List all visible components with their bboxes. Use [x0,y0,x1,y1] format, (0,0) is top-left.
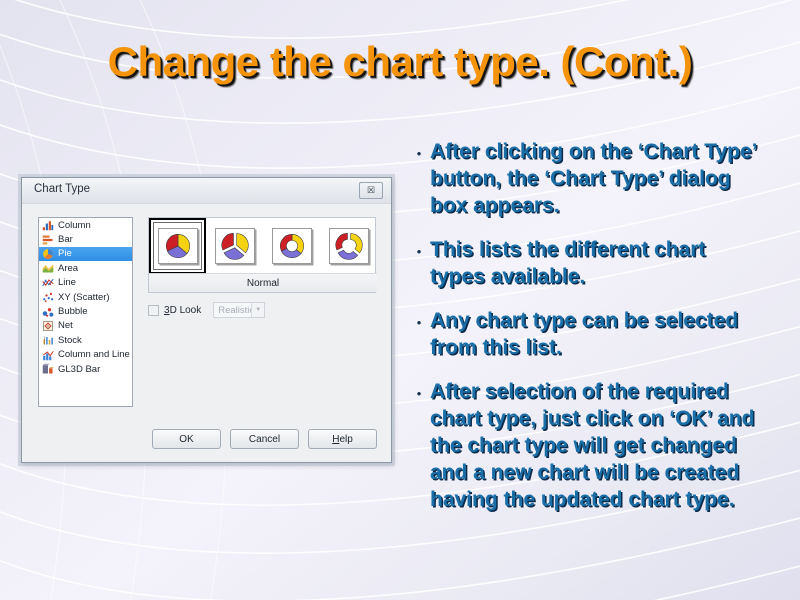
close-icon[interactable]: ☒ [359,182,383,199]
chart-type-dialog: Chart Type ☒ ColumnBarPieAreaLineXY (Sca… [21,177,392,463]
list-item-column[interactable]: Column [39,218,132,232]
list-item-label: Bar [58,234,73,245]
chart-type-listbox[interactable]: ColumnBarPieAreaLineXY (Scatter)BubbleNe… [38,217,133,407]
chevron-down-icon[interactable]: ▼ [251,303,264,317]
scatter-chart-icon [42,291,54,303]
gallery-caption: Normal [149,273,377,292]
column-and-line-chart-icon [42,349,54,361]
dialog-body: ColumnBarPieAreaLineXY (Scatter)BubbleNe… [22,204,391,463]
list-item-pie[interactable]: Pie [39,247,132,261]
list-item-label: Column [58,220,91,231]
list-item-stock[interactable]: Stock [39,333,132,347]
list-item-column-and-line[interactable]: Column and Line [39,348,132,362]
dialog-titlebar[interactable]: Chart Type ☒ [22,178,391,204]
donut-variant-icon [272,228,312,264]
list-item-label: Net [58,320,73,331]
chart-variant-pie-normal[interactable] [149,218,206,274]
chart-variant-donut-exploded[interactable] [320,218,377,274]
pie-exploded-variant-icon [215,228,255,264]
bullet-list: • After clicking on the ‘Chart Type’ but… [408,138,766,513]
list-item-label: XY (Scatter) [58,292,110,303]
list-item-gl3d-bar[interactable]: GL3D Bar [39,362,132,376]
dialog-title: Chart Type [34,183,90,195]
help-button[interactable]: Help [308,429,377,449]
chart-variant-gallery: Normal [148,217,376,293]
list-item-area[interactable]: Area [39,261,132,275]
gl3d-bar-chart-icon [42,363,54,375]
donut-exploded-variant-icon [329,228,369,264]
bullet-marker: • [408,138,430,169]
ok-button[interactable]: OK [152,429,221,449]
page-title: Change the chart type. (Cont.) [0,38,800,86]
list-item-label: Line [58,277,76,288]
column-chart-icon [42,219,54,231]
chart-variant-donut[interactable] [263,218,320,274]
chart-variant-row [149,218,377,274]
net-chart-icon [42,320,54,332]
bar-chart-icon [42,234,54,246]
list-item-bubble[interactable]: Bubble [39,304,132,318]
3d-look-checkbox[interactable] [148,305,159,316]
line-chart-icon [42,277,54,289]
list-item-xy-scatter[interactable]: XY (Scatter) [39,290,132,304]
cancel-button[interactable]: Cancel [230,429,299,449]
list-item: • After selection of the required chart … [408,378,766,513]
list-item-line[interactable]: Line [39,276,132,290]
list-item-net[interactable]: Net [39,319,132,333]
list-item: • Any chart type can be selected from th… [408,307,766,361]
3d-look-row: 3D Look Realistic ▼ [148,302,265,318]
area-chart-icon [42,262,54,274]
3d-look-select[interactable]: Realistic ▼ [213,302,265,318]
list-item-bar[interactable]: Bar [39,232,132,246]
list-item-label: Stock [58,335,82,346]
list-item-label: Column and Line [58,349,130,360]
list-item-label: Area [58,263,78,274]
dialog-button-bar: OK Cancel Help [152,429,377,449]
list-item-label: GL3D Bar [58,364,100,375]
list-item: • After clicking on the ‘Chart Type’ but… [408,138,766,219]
bullet-text: This lists the different chart types ava… [430,236,766,290]
stock-chart-icon [42,334,54,346]
bullet-text: After clicking on the ‘Chart Type’ butto… [430,138,766,219]
list-item-label: Pie [58,248,72,259]
pie-chart-icon [42,248,54,260]
3d-look-select-value: Realistic [214,305,254,316]
3d-look-label: 3D Look [164,305,201,316]
bullet-text: After selection of the required chart ty… [430,378,766,513]
bubble-chart-icon [42,306,54,318]
list-item: • This lists the different chart types a… [408,236,766,290]
list-item-label: Bubble [58,306,88,317]
bullet-marker: • [408,378,430,409]
bullet-marker: • [408,236,430,267]
chart-variant-pie-exploded[interactable] [206,218,263,274]
bullet-text: Any chart type can be selected from this… [430,307,766,361]
pie-variant-icon [158,228,198,264]
slide-title: Change the chart type. (Cont.) [0,38,800,86]
bullet-marker: • [408,307,430,338]
